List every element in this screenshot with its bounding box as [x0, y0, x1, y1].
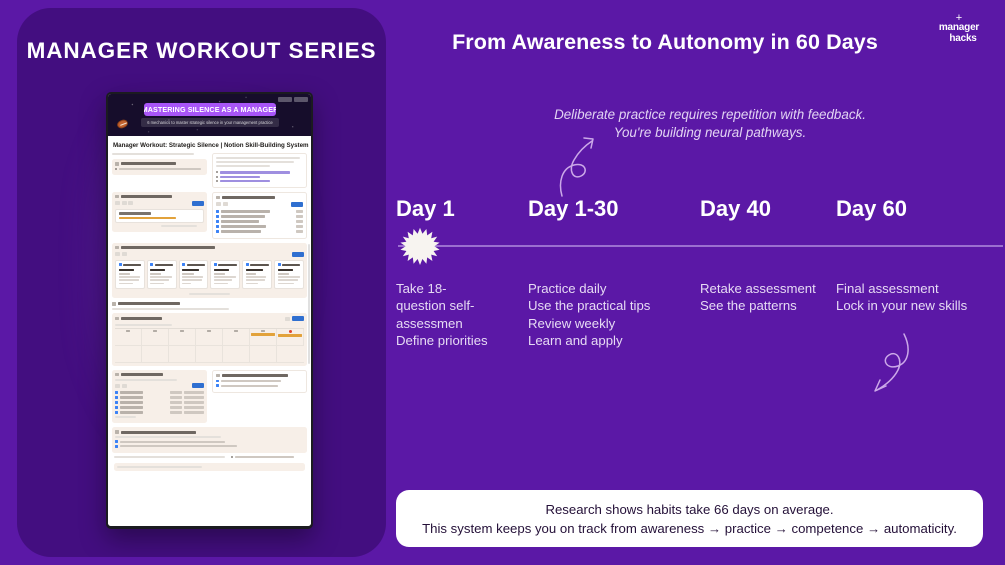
page-title: From Awareness to Autonomy in 60 Days — [400, 30, 930, 55]
timeline-item: Define priorities — [396, 332, 521, 349]
page-scrollbar[interactable] — [308, 244, 310, 364]
timeline-item: Take 18- — [396, 280, 521, 297]
table-row[interactable] — [216, 210, 303, 213]
card-title — [187, 264, 205, 266]
section-heading — [115, 430, 304, 434]
daily-practices-db — [212, 192, 307, 239]
reference-link[interactable] — [115, 440, 304, 443]
text-line — [112, 153, 194, 155]
reference-link[interactable] — [115, 445, 304, 448]
gallery-card[interactable] — [115, 260, 145, 289]
starburst-marker-icon — [400, 227, 440, 267]
new-button[interactable] — [291, 202, 303, 207]
new-button[interactable] — [192, 383, 204, 388]
row-date — [184, 406, 204, 408]
poster-canvas: MANAGER WORKOUT SERIES MASTERING SILENCE… — [0, 0, 1005, 565]
calendar-cell-today[interactable] — [277, 329, 304, 346]
file-icon — [115, 445, 118, 448]
text-line — [115, 436, 221, 438]
cover-subtitle: 6 mechanics to master strategic silence … — [141, 118, 279, 127]
gallery-card[interactable] — [242, 260, 272, 289]
timeline-item: Retake assessment — [700, 280, 835, 297]
footer-text — [114, 456, 225, 458]
link-item-why-youre-here[interactable] — [216, 176, 303, 178]
page-icon — [216, 225, 219, 228]
heading-text — [121, 195, 173, 198]
calendar-cell[interactable] — [223, 346, 250, 363]
card-status-tag — [119, 217, 176, 219]
row-title — [120, 406, 143, 408]
footer-callout — [114, 463, 305, 471]
calendar-toolbar[interactable] — [115, 316, 304, 321]
calendar-cell[interactable] — [250, 346, 277, 363]
toolbar-chip[interactable] — [128, 201, 133, 205]
row-date — [184, 391, 204, 393]
timeline-day-label-2: Day 1-30 — [528, 196, 619, 222]
row-value — [296, 215, 303, 217]
timeline-item: Review weekly — [528, 315, 693, 332]
left-showcase-panel: MANAGER WORKOUT SERIES MASTERING SILENCE… — [17, 8, 386, 557]
timeline-item: Final assessment — [836, 280, 1005, 297]
section-heading — [115, 246, 304, 250]
timeline-day-label-4: Day 60 — [836, 196, 907, 222]
toolbar-chip[interactable] — [122, 201, 127, 205]
arrow-icon — [216, 180, 218, 182]
card-icon — [182, 263, 185, 266]
page-icon — [216, 215, 219, 218]
text-line — [216, 165, 270, 167]
toolbar-chip[interactable] — [216, 202, 221, 206]
heading-text — [121, 246, 216, 249]
intro-left-col — [112, 153, 207, 188]
timeline-axis — [398, 245, 1003, 247]
table-row[interactable] — [115, 411, 204, 414]
database-row — [112, 192, 307, 239]
row-value — [170, 411, 182, 413]
row-value — [170, 406, 182, 408]
block-icon — [115, 373, 119, 377]
table-row[interactable] — [216, 225, 303, 228]
page-icon — [216, 380, 219, 383]
load-more-button[interactable] — [115, 416, 136, 418]
curly-arrow-down-icon — [864, 332, 922, 396]
block-icon — [112, 302, 116, 306]
calendar-cell[interactable] — [223, 329, 250, 346]
link-text — [120, 445, 237, 447]
intro-right-col — [212, 153, 307, 188]
calendar-cell[interactable] — [142, 329, 169, 346]
bullet-item — [115, 168, 204, 170]
db-toolbar[interactable] — [216, 202, 303, 207]
row-title — [221, 210, 270, 212]
page-icon — [216, 210, 219, 213]
timeline-item: See the patterns — [700, 297, 835, 314]
timeline-item: assessmen — [396, 315, 521, 332]
footer-callout-box: Research shows habits take 66 days on av… — [396, 490, 983, 547]
row-date — [184, 396, 204, 398]
page-icon — [115, 406, 118, 409]
db-panel — [112, 370, 207, 423]
gallery-card[interactable] — [274, 260, 304, 289]
callout-heading — [115, 162, 204, 166]
row-value — [296, 230, 303, 232]
block-icon — [115, 162, 119, 166]
toolbar-chip[interactable] — [285, 317, 290, 321]
row-date — [184, 411, 204, 413]
gallery-card[interactable] — [179, 260, 209, 289]
row-value — [296, 225, 303, 227]
new-button[interactable] — [292, 316, 304, 321]
timeline-item: question self- — [396, 297, 521, 314]
timeline-item: Lock in your new skills — [836, 297, 1005, 314]
row-title — [221, 230, 261, 232]
page-footer — [112, 453, 307, 474]
notion-cover: MASTERING SILENCE AS A MANAGER 6 mechani… — [108, 94, 311, 136]
db-panel — [212, 370, 307, 393]
footer-line1: Research shows habits take 66 days on av… — [545, 500, 833, 519]
link-text — [120, 441, 226, 443]
page-icon — [115, 401, 118, 404]
timeline-column-4: Final assessmentLock in your new skills — [836, 280, 1005, 315]
block-icon — [115, 195, 119, 199]
reference-materials-section — [112, 427, 307, 452]
table-row[interactable] — [216, 220, 303, 223]
row-title — [221, 220, 259, 222]
row-title — [120, 411, 143, 413]
bullet-dot-icon — [115, 168, 117, 170]
gallery-card[interactable] — [147, 260, 177, 289]
item-text — [221, 380, 282, 382]
calendar-icon — [115, 317, 119, 321]
db-toolbar[interactable] — [115, 383, 204, 388]
arrow-icon — [216, 171, 218, 173]
row-value — [296, 210, 303, 212]
link-item-knowledge-library[interactable] — [216, 180, 303, 182]
calendar-view — [112, 313, 307, 366]
phone-mockup: MASTERING SILENCE AS A MANAGER 6 mechani… — [106, 92, 313, 529]
db-heading — [115, 195, 204, 199]
db-card[interactable] — [115, 209, 204, 223]
timeline-item: Use the practical tips — [528, 297, 693, 314]
section-heading — [216, 374, 303, 378]
self-assessment-db — [112, 192, 207, 239]
heading-text — [118, 302, 180, 305]
new-button[interactable] — [292, 252, 304, 257]
calendar-grid — [115, 328, 304, 363]
page-icon — [115, 391, 118, 394]
timeline-column-2: Practice dailyUse the practical tipsRevi… — [528, 280, 693, 349]
long-term-progress-section — [212, 370, 307, 423]
bullet-dot-icon — [231, 456, 233, 458]
footer-link[interactable] — [231, 456, 305, 458]
row-value — [170, 401, 182, 403]
block-icon — [216, 374, 220, 378]
notion-page-body: Manager Workout: Strategic Silence | Not… — [108, 136, 311, 526]
load-more[interactable] — [161, 225, 197, 227]
reflection-row — [112, 370, 307, 423]
calendar-cell[interactable] — [277, 346, 304, 363]
item-text — [221, 385, 278, 387]
row-value — [296, 220, 303, 222]
toolbar-chip[interactable] — [122, 252, 127, 256]
football-icon — [116, 118, 129, 130]
timeline-column-3: Retake assessmentSee the patterns — [700, 280, 835, 315]
callout-getting-started — [212, 153, 307, 188]
brand-logo-line1: manager — [927, 23, 991, 34]
row-title — [221, 215, 265, 217]
calendar-cell[interactable] — [142, 346, 169, 363]
timeline-column-1: Take 18-question self-assessmenDefine pr… — [396, 280, 521, 349]
footer-line2: This system keeps you on track from awar… — [422, 519, 957, 538]
block-icon — [115, 246, 119, 250]
calendar-cell[interactable] — [169, 329, 196, 346]
link-text — [220, 176, 260, 178]
table-row[interactable] — [115, 391, 204, 394]
row-value — [170, 391, 182, 393]
notion-page-title: Manager Workout: Strategic Silence | Not… — [113, 142, 307, 149]
mechanics-gallery-section — [112, 243, 307, 298]
notion-topbar — [278, 97, 308, 102]
card-title — [155, 264, 173, 266]
heading-text — [222, 196, 276, 199]
db-panel — [112, 192, 207, 232]
card-icon — [246, 263, 249, 266]
card-icon — [278, 263, 281, 266]
block-icon — [216, 196, 220, 200]
card-title — [119, 212, 152, 214]
toolbar-chip[interactable] — [115, 252, 120, 256]
row-title — [221, 225, 266, 227]
table-row[interactable] — [115, 401, 204, 404]
timeline-item: Practice daily — [528, 280, 693, 297]
card-title — [282, 264, 300, 266]
table-row[interactable] — [216, 215, 303, 218]
text-line — [216, 161, 294, 163]
table-row[interactable] — [216, 230, 303, 233]
new-button[interactable] — [192, 201, 204, 206]
topbar-button-more[interactable] — [294, 97, 308, 102]
card-icon — [119, 263, 122, 266]
calendar-cell-event[interactable] — [250, 329, 277, 346]
link-item-start-here[interactable] — [216, 171, 303, 173]
row-title — [120, 396, 143, 398]
calendar-cell[interactable] — [196, 346, 223, 363]
left-panel-title: MANAGER WORKOUT SERIES — [17, 38, 386, 64]
page-icon — [115, 396, 118, 399]
row-title — [120, 401, 143, 403]
card-title — [218, 264, 236, 266]
view-name — [121, 317, 163, 320]
db-toolbar[interactable] — [115, 201, 204, 206]
timeline-item: Learn and apply — [528, 332, 693, 349]
brand-logo: + manager hacks — [927, 14, 991, 44]
heading-text — [121, 431, 197, 434]
text-line — [216, 157, 300, 159]
callout-initial-assessment — [112, 159, 207, 175]
intro-row — [112, 153, 307, 188]
table-row[interactable] — [115, 396, 204, 399]
card-icon — [214, 263, 217, 266]
card-icon — [150, 263, 153, 266]
cover-badge-title: MASTERING SILENCE AS A MANAGER — [144, 103, 276, 116]
link-text — [235, 456, 294, 458]
page-icon — [216, 384, 219, 387]
db-panel — [212, 192, 307, 239]
link-text — [220, 171, 290, 173]
bullet-text — [119, 168, 201, 170]
card-title — [123, 264, 141, 266]
calendar-cell[interactable] — [115, 329, 142, 346]
row-value — [170, 396, 182, 398]
toolbar-chip[interactable] — [223, 202, 228, 206]
block-icon — [115, 430, 119, 434]
timeline-day-label-1: Day 1 — [396, 196, 455, 222]
note-top-line1: Deliberate practice requires repetition … — [505, 106, 915, 124]
table-row[interactable] — [115, 406, 204, 409]
weekly-reflection-db — [112, 370, 207, 423]
heading-text — [222, 374, 288, 377]
heading-text — [121, 373, 164, 376]
topbar-button-share[interactable] — [278, 97, 292, 102]
text-line — [117, 466, 202, 468]
gallery-card[interactable] — [210, 260, 240, 289]
page-icon — [216, 220, 219, 223]
curly-arrow-up-icon — [548, 132, 608, 198]
row-title — [120, 391, 143, 393]
card-title — [250, 264, 268, 266]
calendar-cell[interactable] — [196, 329, 223, 346]
section-heading — [112, 302, 307, 306]
link-text — [220, 180, 270, 182]
phone-screen: MASTERING SILENCE AS A MANAGER 6 mechani… — [108, 94, 311, 526]
brand-logo-line2: hacks — [935, 34, 991, 45]
db-heading — [115, 373, 204, 377]
arrow-icon — [216, 176, 218, 178]
toolbar-chip[interactable] — [115, 201, 120, 205]
page-icon — [115, 411, 118, 414]
file-icon — [115, 440, 118, 443]
calendar-cell[interactable] — [169, 346, 196, 363]
daily-practice-reps-section — [112, 302, 307, 366]
sub-item[interactable] — [216, 380, 303, 383]
month-label — [115, 324, 172, 326]
text-line — [112, 308, 229, 310]
gallery-toolbar[interactable] — [115, 252, 304, 257]
calendar-cell[interactable] — [115, 346, 142, 363]
text-line — [115, 379, 177, 381]
load-more-button[interactable] — [189, 293, 231, 295]
page-icon — [216, 230, 219, 233]
timeline-day-label-3: Day 40 — [700, 196, 771, 222]
gallery-cards — [115, 260, 304, 289]
sub-item[interactable] — [216, 384, 303, 387]
db-heading — [216, 196, 303, 200]
heading-text — [121, 162, 176, 165]
row-date — [184, 401, 204, 403]
